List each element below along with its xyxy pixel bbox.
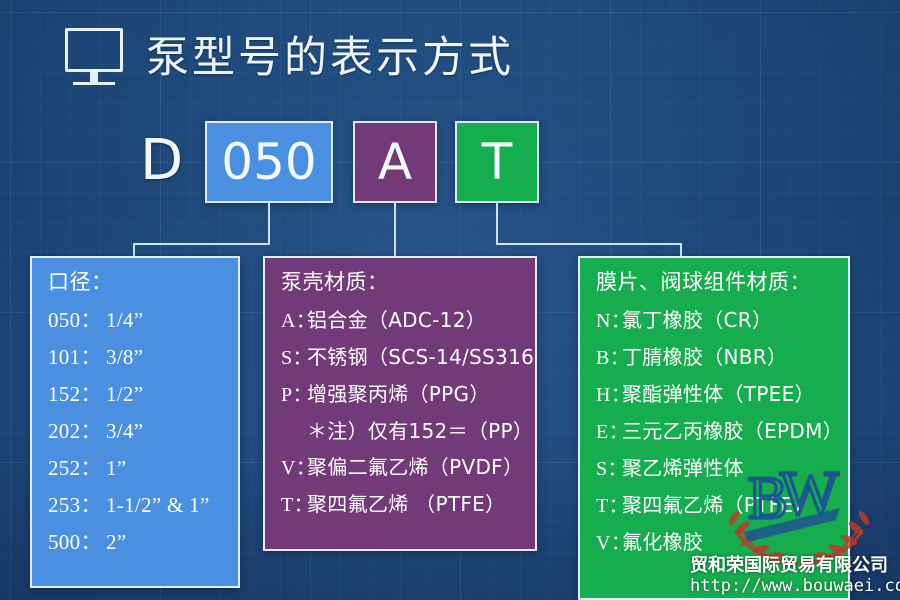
panel-bore-row: 202：3/4” — [48, 421, 222, 442]
panel-diaphragm-title: 膜片、阀球组件材质： — [596, 272, 832, 293]
panel-body-row: S：不锈钢（SCS-14/SS316） — [281, 347, 519, 368]
panel-diaphragm-material: 膜片、阀球组件材质： N：氯丁橡胶（CR） B：丁腈橡胶（NBR） H：聚酯弹性… — [578, 256, 850, 600]
row-key: 252： — [48, 458, 106, 479]
row-value: 聚四氟乙烯（PTFE） — [622, 495, 814, 515]
row-value: 聚乙烯弹性体 — [622, 458, 744, 478]
panel-bore-title: 口径： — [48, 272, 222, 293]
panel-diaphragm-row: T：聚四氟乙烯（PTFE） — [596, 495, 832, 516]
connector-diaphragm-horizontal — [496, 243, 682, 245]
row-key: T： — [596, 496, 622, 516]
connector-bore-vertical — [268, 203, 270, 245]
page-header: 泵型号的表示方式 — [62, 28, 514, 88]
row-value: 氯丁橡胶（CR） — [622, 310, 772, 330]
row-value: 增强聚丙烯（PPG） — [307, 384, 490, 404]
row-key: V： — [281, 458, 307, 478]
connector-diaphragm-vertical — [496, 203, 498, 245]
panel-bore: 口径： 050：1/4” 101：3/8” 152：1/2” 202：3/4” … — [30, 256, 240, 588]
row-key: S： — [281, 348, 307, 368]
row-value: 2” — [106, 532, 126, 553]
connector-body-vertical — [394, 203, 396, 257]
row-value: 氟化橡胶 — [622, 532, 703, 552]
panel-body-row: P：增强聚丙烯（PPG） — [281, 384, 519, 405]
panel-diaphragm-row: V：氟化橡胶 — [596, 532, 832, 553]
row-value: 聚偏二氟乙烯（PVDF） — [307, 457, 523, 477]
row-key: T： — [281, 495, 307, 515]
panel-diaphragm-row: B：丁腈橡胶（NBR） — [596, 347, 832, 368]
panel-bore-row: 101：3/8” — [48, 347, 222, 368]
row-value: 聚酯弹性体（TPEE） — [622, 384, 815, 404]
row-value: ＊注）仅有152＝（PP） — [307, 421, 533, 441]
row-value: 1/2” — [106, 384, 143, 405]
row-key: N： — [596, 311, 622, 331]
connector-bore-drop — [133, 243, 135, 257]
monitor-icon — [62, 28, 128, 88]
panel-bore-row: 050：1/4” — [48, 310, 222, 331]
panel-diaphragm-row: H：聚酯弹性体（TPEE） — [596, 384, 832, 405]
panel-bore-row: 152：1/2” — [48, 384, 222, 405]
panel-body-row: A：铝合金（ADC-12） — [281, 310, 519, 331]
row-value: 1” — [106, 458, 126, 479]
row-key: 050： — [48, 310, 106, 331]
connector-diaphragm-drop — [680, 243, 682, 257]
row-value: 1-1/2” & 1” — [106, 495, 210, 516]
row-value: 不锈钢（SCS-14/SS316） — [307, 347, 537, 367]
row-value: 丁腈橡胶（NBR） — [622, 347, 787, 367]
row-value: 3/8” — [106, 347, 143, 368]
code-box-diaphragm[interactable]: T — [455, 121, 539, 203]
panel-body-title: 泵壳材质： — [281, 272, 519, 293]
row-key: 101： — [48, 347, 106, 368]
panel-body-row: T：聚四氟乙烯 （PTFE） — [281, 494, 519, 515]
connector-bore-horizontal — [133, 243, 270, 245]
row-key: A： — [281, 311, 307, 331]
panel-bore-row: 500：2” — [48, 532, 222, 553]
code-box-body[interactable]: A — [353, 121, 437, 203]
panel-body-material: 泵壳材质： A：铝合金（ADC-12） S：不锈钢（SCS-14/SS316） … — [263, 256, 537, 551]
row-key: E： — [596, 422, 622, 442]
code-prefix-letter: D — [140, 133, 183, 189]
row-key: V： — [596, 533, 622, 553]
row-key: 253： — [48, 495, 106, 516]
row-key: 202： — [48, 421, 106, 442]
row-value: 聚四氟乙烯 （PTFE） — [307, 494, 505, 514]
row-value: 三元乙丙橡胶（EPDM） — [622, 421, 843, 441]
panel-body-row: V：聚偏二氟乙烯（PVDF） — [281, 457, 519, 478]
panel-diaphragm-row: N：氯丁橡胶（CR） — [596, 310, 832, 331]
panel-diaphragm-row: S：聚乙烯弹性体 — [596, 458, 832, 479]
row-value: 3/4” — [106, 421, 143, 442]
row-value: 1/4” — [106, 310, 143, 331]
panel-bore-row: 253：1-1/2” & 1” — [48, 495, 222, 516]
row-key: 500： — [48, 532, 106, 553]
page-title: 泵型号的表示方式 — [146, 37, 514, 80]
row-key: H： — [596, 385, 622, 405]
panel-diaphragm-row: E：三元乙丙橡胶（EPDM） — [596, 421, 832, 442]
code-box-bore[interactable]: 050 — [205, 121, 333, 203]
row-value: 铝合金（ADC-12） — [307, 310, 486, 330]
row-key: P： — [281, 385, 307, 405]
panel-bore-row: 252：1” — [48, 458, 222, 479]
row-key: B： — [596, 348, 622, 368]
row-key: S： — [596, 459, 622, 479]
panel-body-note: ＊注）仅有152＝（PP） — [281, 421, 519, 441]
row-key: 152： — [48, 384, 106, 405]
slide-canvas: 泵型号的表示方式 D 050 A T 口径： 050：1/4” 101：3/8”… — [0, 0, 900, 600]
